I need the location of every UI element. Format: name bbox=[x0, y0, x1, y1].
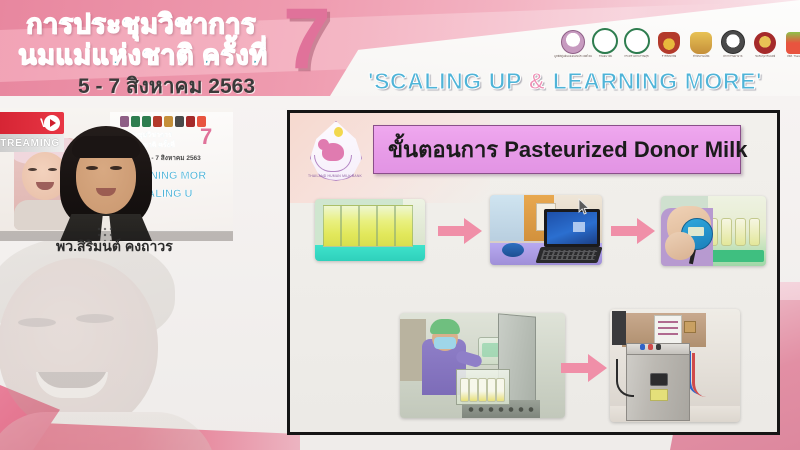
milk-bank-logo-caption: THAILAND HUMAN MILK BANK bbox=[305, 174, 365, 178]
play-icon bbox=[44, 115, 60, 131]
live-stream-video-thumbnail[interactable]: การประชุมวิชาการ นมแม่แห่งชาติ ครั้งที่ … bbox=[0, 108, 233, 241]
sponsor-logo-6: ชมรมกุมารแพทย์ bbox=[752, 24, 778, 58]
p4-bottle-3 bbox=[478, 378, 487, 402]
p1-rack-5 bbox=[395, 205, 413, 247]
arrow-step-2-to-3 bbox=[611, 217, 655, 245]
sponsor-logo-5: สภาการพยาบาล bbox=[720, 24, 746, 58]
p5-sign-line-1 bbox=[658, 321, 678, 323]
p4-tub-bottle-slots bbox=[466, 405, 536, 414]
p1-rack-1 bbox=[323, 205, 341, 247]
p5-sign-line-2 bbox=[658, 327, 678, 329]
milk-droplet-icon bbox=[334, 127, 343, 137]
speaker-eye-left bbox=[86, 166, 98, 170]
thaihealth-sss-logo bbox=[786, 32, 800, 54]
sponsor-caption-7: สสส. ThaiHealth bbox=[787, 55, 800, 58]
sponsor-logo-2: กระทรวงสาธารณสุข bbox=[624, 24, 650, 58]
sponsor-caption-4: สำนักงานปลัด bbox=[693, 55, 709, 58]
p4-bottle-2 bbox=[469, 378, 478, 402]
slide-screenshot: การประชุมวิชาการ นมแม่แห่งชาติ ครั้งที่ … bbox=[0, 0, 800, 450]
child-watermark-image bbox=[0, 240, 240, 450]
p1-rack-4 bbox=[377, 205, 395, 247]
watermark-face bbox=[0, 258, 158, 433]
sponsor-caption-6: ชมรมกุมารแพทย์ bbox=[755, 55, 775, 58]
live-badge-bottom: TREAMING bbox=[0, 134, 64, 152]
mouse-cursor bbox=[578, 198, 590, 221]
watermark-body bbox=[0, 412, 216, 450]
speaker-fringe bbox=[72, 136, 140, 158]
p2-keyboard-keys bbox=[540, 250, 597, 260]
tagline-prefix: 'SCALING UP bbox=[368, 68, 529, 94]
speaker-portrait bbox=[52, 126, 160, 241]
sponsor-caption-1: กรมอนามัย bbox=[598, 55, 611, 58]
p4-bottle-crate bbox=[456, 369, 510, 405]
conference-date: 5 - 7 สิงหาคม 2563 bbox=[78, 70, 255, 103]
live-badge-top: VE bbox=[0, 112, 64, 134]
poster-logo-5 bbox=[175, 116, 184, 127]
p3-bottle-4 bbox=[749, 218, 760, 246]
sponsor-caption-3: ราชวิทยาลัย bbox=[662, 55, 676, 58]
sponsor-caption-5: สภาการพยาบาล bbox=[723, 55, 742, 58]
sponsor-caption-0: มูลนิธิศูนย์นมแม่แห่งประเทศไทย bbox=[554, 55, 592, 58]
sponsor-logo-1: กรมอนามัย bbox=[592, 24, 618, 58]
live-streaming-badge: VE TREAMING bbox=[0, 112, 64, 154]
watermark-eye-right bbox=[76, 314, 114, 323]
p1-rack-2 bbox=[341, 205, 359, 247]
p2-mouse bbox=[502, 243, 524, 257]
p2-wall-left bbox=[490, 195, 524, 241]
p5-wall-sign bbox=[654, 315, 682, 345]
arrow-step-1-to-2 bbox=[438, 217, 482, 245]
department-health-logo bbox=[624, 28, 650, 54]
photo-milk-storage-racks bbox=[315, 199, 425, 261]
speaker-eye-right bbox=[110, 166, 122, 170]
royal-college-logo bbox=[658, 32, 680, 54]
ministry-public-health-logo bbox=[592, 28, 618, 54]
human-milk-bank-logo: THAILAND HUMAN MILK BANK bbox=[304, 119, 366, 185]
sponsor-caption-2: กระทรวงสาธารณสุข bbox=[625, 55, 649, 58]
slide-title-banner: ขั้นตอนการ Pasteurized Donor Milk bbox=[373, 125, 741, 174]
arrow-step-4-to-5 bbox=[561, 353, 607, 383]
nursing-council-logo bbox=[721, 30, 745, 54]
thai-breastfeeding-foundation-logo bbox=[561, 30, 585, 54]
p5-knob-blue bbox=[640, 344, 645, 350]
p3-fingers bbox=[665, 232, 695, 260]
pediatric-society-logo bbox=[754, 32, 776, 54]
p5-sign-line-3 bbox=[658, 333, 678, 335]
p3-bottle-2 bbox=[721, 218, 732, 246]
photo-thermometer-check bbox=[661, 196, 766, 266]
p4-bottle-1 bbox=[460, 378, 469, 402]
presentation-slide-panel: THAILAND HUMAN MILK BANK ขั้นตอนการ Past… bbox=[287, 110, 780, 435]
p5-red-hose bbox=[692, 353, 709, 397]
p1-rack-3 bbox=[359, 205, 377, 247]
slide-title: ขั้นตอนการ Pasteurized Donor Milk bbox=[388, 132, 748, 167]
sponsor-logo-strip: มูลนิธิศูนย์นมแม่แห่งประเทศไทย กรมอนามัย… bbox=[560, 24, 800, 58]
p5-dark-edge bbox=[612, 311, 626, 345]
sponsor-logo-7: สสส. ThaiHealth bbox=[784, 24, 800, 58]
p4-bottle-5 bbox=[496, 378, 505, 402]
sponsor-logo-3: ราชวิทยาลัย bbox=[656, 24, 682, 58]
photo-pasteurizer-machine bbox=[610, 309, 740, 422]
conference-tagline: 'SCALING UP & LEARNING MORE' bbox=[368, 68, 762, 95]
p5-control-display bbox=[650, 373, 668, 386]
poster-logo-6 bbox=[186, 116, 195, 127]
poster-edition-number: 7 bbox=[200, 126, 212, 148]
p5-knob-dark bbox=[656, 344, 661, 350]
p5-wall-placard bbox=[684, 321, 696, 333]
p3-tray bbox=[710, 250, 764, 262]
p5-warning-label bbox=[650, 389, 668, 401]
speaker-name-caption: พว.สิริมนต์ คงถาวร bbox=[56, 236, 173, 258]
p4-bottle-4 bbox=[487, 378, 496, 402]
p2-screen-icon bbox=[573, 222, 585, 232]
poster-logo-4 bbox=[164, 116, 173, 127]
p1-floor bbox=[315, 245, 425, 261]
sponsor-logo-4: สำนักงานปลัด bbox=[688, 24, 714, 58]
conference-edition-number: 7 bbox=[283, 0, 331, 82]
p4-nurse-surgical-cap bbox=[430, 319, 460, 334]
streaming-label: TREAMING bbox=[0, 138, 60, 149]
royal-thai-emblem-logo bbox=[690, 32, 712, 54]
photo-nurse-loading-pasteurizer bbox=[400, 313, 565, 418]
p5-knob-red bbox=[648, 344, 653, 350]
watermark-eye-left bbox=[18, 318, 56, 327]
tagline-suffix: LEARNING MORE' bbox=[546, 68, 762, 94]
sponsor-logo-0: มูลนิธิศูนย์นมแม่แห่งประเทศไทย bbox=[560, 24, 586, 58]
p3-bottle-3 bbox=[735, 218, 746, 246]
tagline-ampersand: & bbox=[529, 68, 546, 94]
p4-nurse-face-mask bbox=[434, 337, 456, 349]
child-eye-left bbox=[28, 168, 37, 171]
